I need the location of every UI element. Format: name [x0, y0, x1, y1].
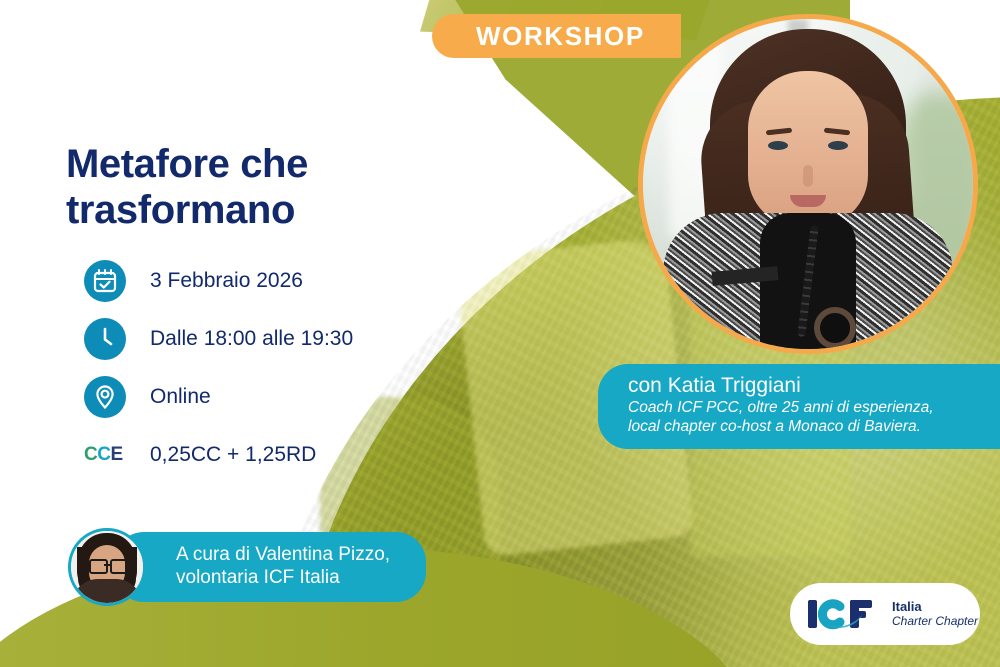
speaker-caption: con Katia Triggiani Coach ICF PCC, oltre…: [598, 364, 1000, 449]
speaker-portrait: [638, 14, 978, 354]
event-details-list: 3 Febbraio 2026 Dalle 18:00 alle 19:30 O…: [84, 252, 484, 484]
portrait-pendant: [814, 307, 856, 349]
speaker-role-line-2: local chapter co-host a Monaco di Bavier…: [628, 417, 974, 436]
detail-row-time: Dalle 18:00 alle 19:30: [84, 310, 484, 368]
portrait-eyebrow-right: [824, 128, 850, 136]
detail-row-location: Online: [84, 368, 484, 426]
portrait-eye-left: [768, 141, 788, 150]
curator-avatar-glasses-left: [89, 559, 108, 574]
curator-block: A cura di Valentina Pizzo, volontaria IC…: [68, 528, 426, 606]
curator-line-2: volontaria ICF Italia: [176, 567, 390, 590]
icf-logo-mark: [806, 594, 882, 634]
icf-chapter-type: Charter Chapter: [892, 615, 978, 629]
cce-letter-e: E: [110, 444, 122, 466]
workshop-badge: WORKSHOP: [432, 14, 681, 58]
curator-caption: A cura di Valentina Pizzo, volontaria IC…: [114, 532, 426, 602]
curator-avatar-glasses-bridge: [104, 564, 110, 566]
detail-text-date: 3 Febbraio 2026: [150, 269, 303, 293]
portrait-nose: [803, 165, 813, 187]
curator-avatar: [68, 528, 146, 606]
portrait-eye-right: [828, 141, 848, 150]
curator-avatar-glasses-right: [110, 559, 129, 574]
speaker-role-line-1: Coach ICF PCC, oltre 25 anni di esperien…: [628, 398, 974, 417]
speaker-portrait-photo: [643, 19, 973, 349]
location-pin-icon: [84, 376, 126, 418]
curator-line-1: A cura di Valentina Pizzo,: [176, 544, 390, 567]
detail-row-date: 3 Febbraio 2026: [84, 252, 484, 310]
event-poster: WORKSHOP con K: [0, 0, 1000, 667]
portrait-eyebrow-left: [766, 128, 792, 136]
detail-text-credits: 0,25CC + 1,25RD: [150, 443, 316, 467]
event-title: Metafore che trasformano: [66, 142, 436, 233]
speaker-name: con Katia Triggiani: [628, 374, 974, 397]
icf-logo: Italia Charter Chapter: [790, 583, 980, 645]
detail-text-time: Dalle 18:00 alle 19:30: [150, 327, 353, 351]
detail-text-location: Online: [150, 385, 211, 409]
cce-letter-c1: C: [84, 444, 97, 466]
cce-letter-c2: C: [97, 444, 110, 466]
calendar-icon: [84, 260, 126, 302]
workshop-badge-label: WORKSHOP: [476, 21, 645, 52]
clock-icon: [84, 318, 126, 360]
portrait-face: [748, 71, 868, 227]
portrait-mouth: [790, 195, 826, 207]
icf-logo-text: Italia Charter Chapter: [892, 600, 978, 629]
cce-logo-icon: CCE: [84, 434, 126, 476]
icf-chapter-name: Italia: [892, 600, 978, 615]
detail-row-credits: CCE 0,25CC + 1,25RD: [84, 426, 484, 484]
